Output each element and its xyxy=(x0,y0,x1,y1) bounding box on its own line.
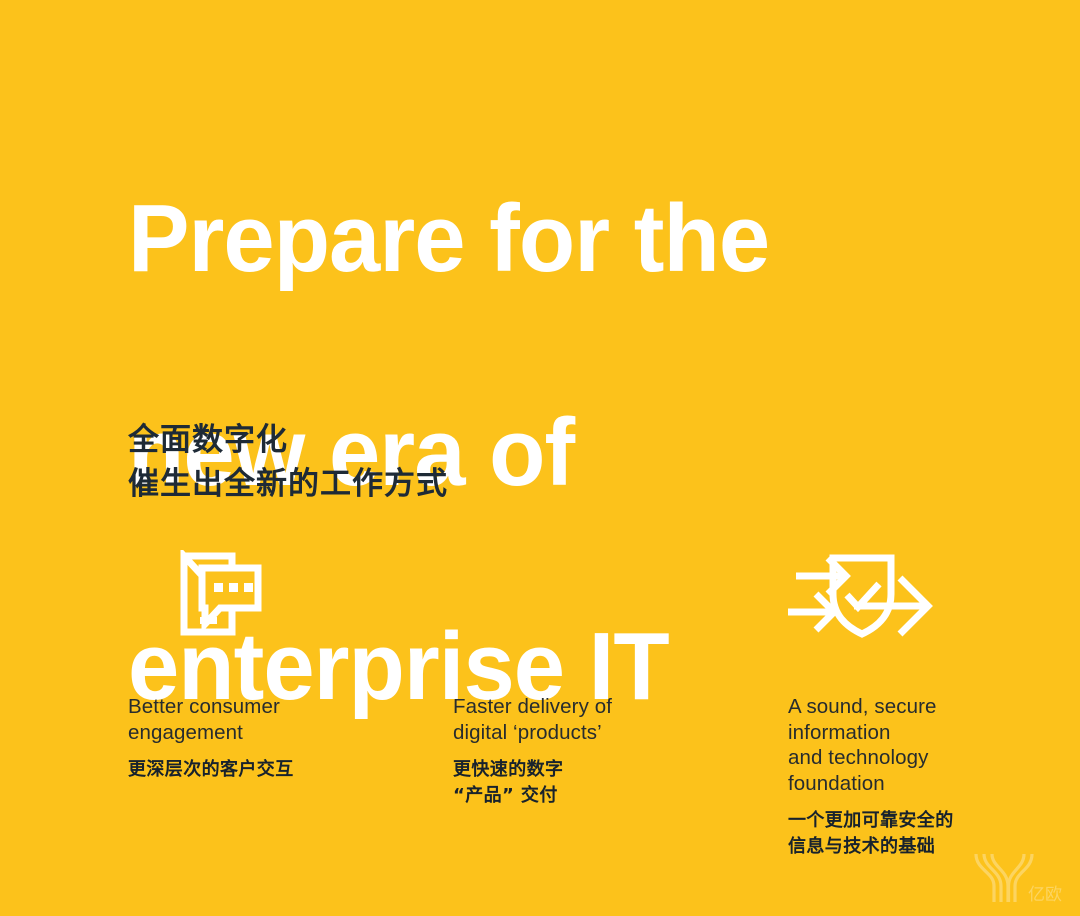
feature-zh-text: 更深层次的客户交互 xyxy=(128,757,294,783)
mobile-chat-icon xyxy=(174,552,266,638)
subtitle-line-2: 催生出全新的工作方式 xyxy=(128,462,448,506)
feature-en-line-2: engagement xyxy=(128,720,280,746)
feature-en-line-1: Better consumer xyxy=(128,694,280,720)
subtitle-line-1: 全面数字化 xyxy=(128,418,448,462)
shield-check-icon xyxy=(823,552,901,638)
headline-line-1: Prepare for the xyxy=(128,185,954,292)
feature-en-line-1: A sound, secure xyxy=(788,694,937,720)
feature-en-text: Better consumer engagement xyxy=(128,694,280,745)
feature-en-line-3: and technology xyxy=(788,745,937,771)
watermark-text: 亿欧 xyxy=(1028,885,1062,905)
feature-en-line-2: information xyxy=(788,720,937,746)
feature-en-line-2: digital ‘products’ xyxy=(453,720,612,746)
feature-list: Better consumer engagement 更深层次的客户交互 xyxy=(128,552,1048,860)
feature-zh-line-1: 更深层次的客户交互 xyxy=(128,757,294,783)
feature-en-text: A sound, secure information and technolo… xyxy=(788,694,937,796)
feature-zh-line-2: “产品” 交付 xyxy=(453,783,563,809)
feature-zh-line-1: 一个更加可靠安全的 xyxy=(788,808,954,834)
feature-en-text: Faster delivery of digital ‘products’ xyxy=(453,694,612,745)
feature-zh-text: 更快速的数字 “产品” 交付 xyxy=(453,757,563,809)
feature-zh-line-2: 信息与技术的基础 xyxy=(788,834,954,860)
feature-en-line-1: Faster delivery of xyxy=(453,694,612,720)
feature-zh-line-1: 更快速的数字 xyxy=(453,757,563,783)
feature-item-secure-foundation: A sound, secure information and technolo… xyxy=(788,552,1048,860)
slide-canvas: Prepare for the new era of enterprise IT… xyxy=(0,0,1080,916)
feature-item-consumer-engagement: Better consumer engagement 更深层次的客户交互 xyxy=(128,552,453,783)
feature-zh-text: 一个更加可靠安全的 信息与技术的基础 xyxy=(788,808,954,860)
subtitle: 全面数字化 催生出全新的工作方式 xyxy=(128,418,448,506)
feature-en-line-4: foundation xyxy=(788,771,937,797)
feature-item-faster-delivery: Faster delivery of digital ‘products’ 更快… xyxy=(453,552,788,809)
